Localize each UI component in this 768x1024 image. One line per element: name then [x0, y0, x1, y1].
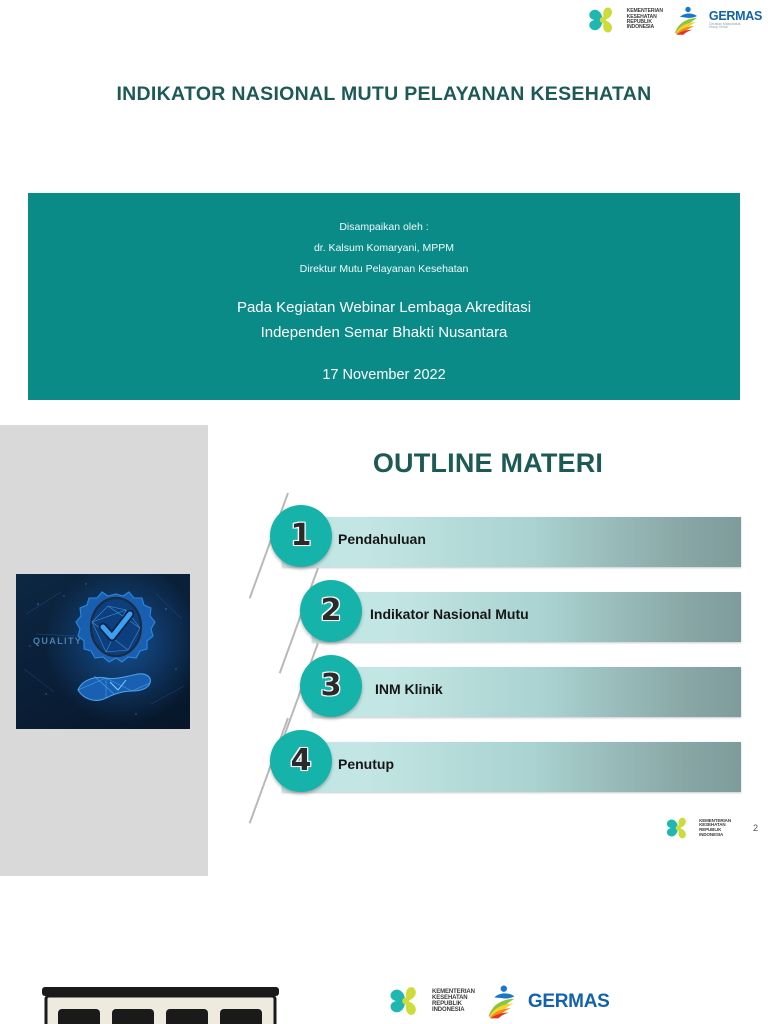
- outline-item-label: Indikator Nasional Mutu: [370, 606, 529, 622]
- outline-item-label: INM Klinik: [375, 681, 443, 697]
- outline-item-number-badge: 4: [270, 730, 332, 792]
- slide3-logo-bar: KEMENTERIAN KESEHATAN REPUBLIK INDONESIA…: [388, 982, 610, 1020]
- slide2-footer: KEMENTERIAN KESEHATAN REPUBLIK INDONESIA…: [665, 815, 758, 841]
- speaker-role: Direktur Mutu Pelayanan Kesehatan: [28, 259, 740, 280]
- event-line-2: Independen Semar Bhakti Nusantara: [28, 320, 740, 345]
- germas-wordmark: GERMAS: [709, 10, 762, 23]
- outline-item-number-badge: 1: [270, 505, 332, 567]
- outline-item-number: 4: [291, 746, 312, 776]
- outline-item-2[interactable]: 2 Indikator Nasional Mutu: [0, 580, 768, 655]
- outline-item-number-badge: 2: [300, 580, 362, 642]
- germas-logo-slide3: GERMAS: [485, 982, 610, 1020]
- outline-item-number-badge: 3: [300, 655, 362, 717]
- outline-item-3[interactable]: 3 INM Klinik: [0, 655, 768, 730]
- kemenkes-flower-icon: [587, 5, 623, 35]
- presented-by-label: Disampaikan oleh :: [28, 217, 740, 238]
- outline-item-number: 3: [321, 671, 342, 701]
- slide-title: KEMENTERIAN KESEHATAN REPUBLIK INDONESIA…: [0, 0, 768, 410]
- table-graphic-icon: [38, 985, 283, 1024]
- outline-item-label: Penutup: [338, 756, 394, 772]
- slide-main-title: INDIKATOR NASIONAL MUTU PELAYANAN KESEHA…: [0, 83, 768, 106]
- kemenkes-line-1: KEMENTERIAN: [432, 989, 475, 995]
- germas-figure-icon: [672, 4, 706, 36]
- kemenkes-logo-slide3: KEMENTERIAN KESEHATAN REPUBLIK INDONESIA: [388, 984, 475, 1018]
- kemenkes-wordmark: KEMENTERIAN KESEHATAN REPUBLIK INDONESIA: [432, 989, 475, 1014]
- outline-heading: OUTLINE MATERI: [208, 448, 768, 479]
- slide-outline: QUALITY OUTLINE MATERI 1 Pendahuluan 2 I…: [0, 410, 768, 970]
- kemenkes-line-4: INDONESIA: [432, 1007, 475, 1013]
- outline-item-4[interactable]: 4 Penutup: [0, 730, 768, 805]
- kemenkes-flower-icon: [388, 984, 428, 1018]
- kemenkes-wordmark: KEMENTERIAN KESEHATAN REPUBLIK INDONESIA: [699, 819, 731, 838]
- outline-item-number: 1: [291, 521, 312, 551]
- outline-item-1[interactable]: 1 Pendahuluan: [0, 505, 768, 580]
- germas-wordblock: GERMAS Gerakan Masyarakat Hidup Sehat: [709, 10, 762, 30]
- kemenkes-logo-footer: KEMENTERIAN KESEHATAN REPUBLIK INDONESIA: [665, 815, 731, 841]
- outline-item-number: 2: [321, 596, 342, 626]
- germas-tagline-2: Hidup Sehat: [709, 26, 762, 30]
- outline-item-label: Pendahuluan: [338, 531, 426, 547]
- germas-figure-icon: [485, 982, 525, 1020]
- outline-items-list: 1 Pendahuluan 2 Indikator Nasional Mutu …: [0, 505, 768, 835]
- germas-wordmark: GERMAS: [528, 992, 610, 1011]
- event-date: 17 November 2022: [28, 367, 740, 383]
- kemenkes-line-4: INDONESIA: [699, 833, 731, 838]
- kemenkes-line-4: INDONESIA: [627, 25, 663, 30]
- slide-next-partial: KEMENTERIAN KESEHATAN REPUBLIK INDONESIA…: [0, 970, 768, 1024]
- page-number: 2: [753, 823, 758, 833]
- kemenkes-flower-icon: [665, 815, 695, 841]
- kemenkes-logo: KEMENTERIAN KESEHATAN REPUBLIK INDONESIA: [587, 5, 663, 35]
- germas-logo: GERMAS Gerakan Masyarakat Hidup Sehat: [672, 4, 762, 36]
- event-line-1: Pada Kegiatan Webinar Lembaga Akreditasi: [28, 295, 740, 320]
- kemenkes-wordmark: KEMENTERIAN KESEHATAN REPUBLIK INDONESIA: [627, 9, 663, 30]
- speaker-name: dr. Kalsum Komaryani, MPPM: [28, 238, 740, 259]
- slide1-logo-bar: KEMENTERIAN KESEHATAN REPUBLIK INDONESIA…: [587, 4, 762, 36]
- speaker-info-panel: Disampaikan oleh : dr. Kalsum Komaryani,…: [28, 193, 740, 400]
